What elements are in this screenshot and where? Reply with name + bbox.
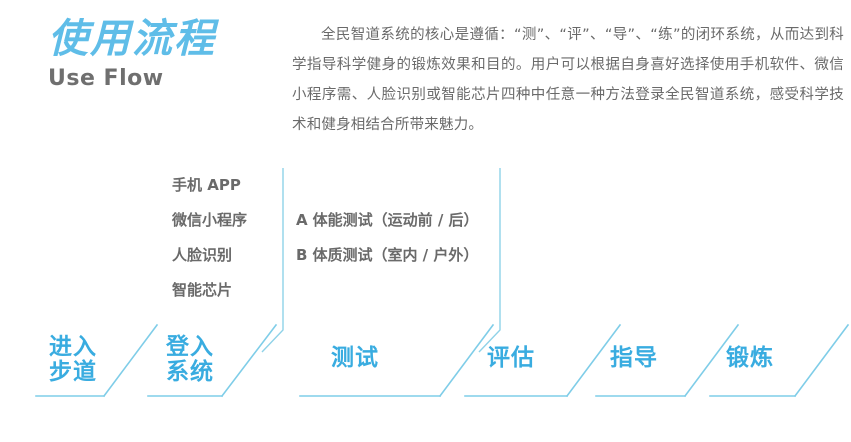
flow-step-5: 指导 — [601, 346, 667, 371]
flow-step-3: 测试 — [322, 346, 388, 371]
flow-step-2-line1: 登入 — [157, 335, 223, 360]
list-item: A体能测试（运动前 / 后） — [296, 203, 496, 238]
flow-step-6-line1: 锻炼 — [717, 346, 783, 371]
flow-divider-2 — [222, 325, 276, 396]
test-item-key: B — [296, 246, 307, 264]
flow-step-1: 进入 步道 — [40, 335, 106, 385]
list-item: B体质测试（室内 / 户外） — [296, 238, 496, 273]
test-item-key: A — [296, 211, 308, 229]
use-flow-infographic: 使用流程 Use Flow 全民智道系统的核心是遵循：“测”、“评”、“导”、“… — [0, 0, 851, 442]
test-type-list: A体能测试（运动前 / 后） B体质测试（室内 / 户外） — [296, 203, 496, 273]
flow-step-4: 评估 — [478, 346, 544, 371]
flow-divider-1 — [104, 325, 157, 396]
intro-paragraph: 全民智道系统的核心是遵循：“测”、“评”、“导”、“练”的闭环系统，从而达到科学… — [292, 20, 844, 140]
flow-step-6: 锻炼 — [717, 346, 783, 371]
page-title: 使用流程 — [48, 18, 216, 60]
flow-step-1-line2: 步道 — [40, 360, 106, 385]
flow-step-4-line1: 评估 — [478, 346, 544, 371]
list-item: 人脸识别 — [172, 238, 276, 273]
flow-divider-6 — [795, 325, 848, 396]
middle-section: 手机 APP 微信小程序 人脸识别 智能芯片 A体能测试（运动前 / 后） B体… — [0, 155, 851, 340]
flow-step-1-line1: 进入 — [40, 335, 106, 360]
list-item: 手机 APP — [172, 168, 276, 203]
flow-step-5-line1: 指导 — [601, 346, 667, 371]
page-subtitle: Use Flow — [48, 66, 164, 91]
test-item-label: 体质测试（室内 / 户外） — [312, 246, 478, 264]
flow-step-2-line2: 系统 — [157, 360, 223, 385]
list-item: 微信小程序 — [172, 203, 276, 238]
login-method-list: 手机 APP 微信小程序 人脸识别 智能芯片 — [172, 168, 276, 308]
flow-step-3-line1: 测试 — [322, 346, 388, 371]
flow-step-2: 登入 系统 — [157, 335, 223, 385]
list-item: 智能芯片 — [172, 273, 276, 308]
test-item-label: 体能测试（运动前 / 后） — [313, 211, 479, 229]
flow-banner: 进入 步道 登入 系统 测试 评估 指导 锻炼 — [0, 318, 851, 403]
